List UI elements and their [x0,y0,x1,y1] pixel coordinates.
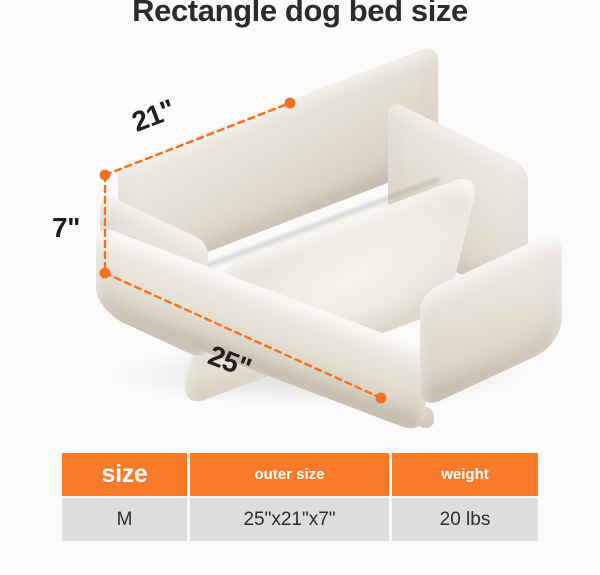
size-chart-body: M 25"x21"x7" 20 lbs [62,496,538,541]
table-row: M 25"x21"x7" 20 lbs [62,496,538,541]
cell-size: M [62,496,190,541]
dimension-endpoint-width-end [376,393,387,404]
dimension-endpoint-corner-bottom [100,268,111,279]
cell-outer-size: 25"x21"x7" [190,496,392,541]
column-header-outer-size: outer size [190,453,392,496]
dimension-endpoint-corner-top [100,170,111,181]
column-header-size: size [62,453,190,496]
dimension-label-height: 7" [52,212,80,244]
cell-weight: 20 lbs [392,496,538,541]
column-header-weight: weight [392,453,538,496]
size-chart-header: size outer size weight [62,453,538,496]
size-chart-table: size outer size weight M 25"x21"x7" 20 l… [62,453,538,541]
table-header-row: size outer size weight [62,453,538,496]
dimension-endpoint-depth-top [285,98,296,109]
